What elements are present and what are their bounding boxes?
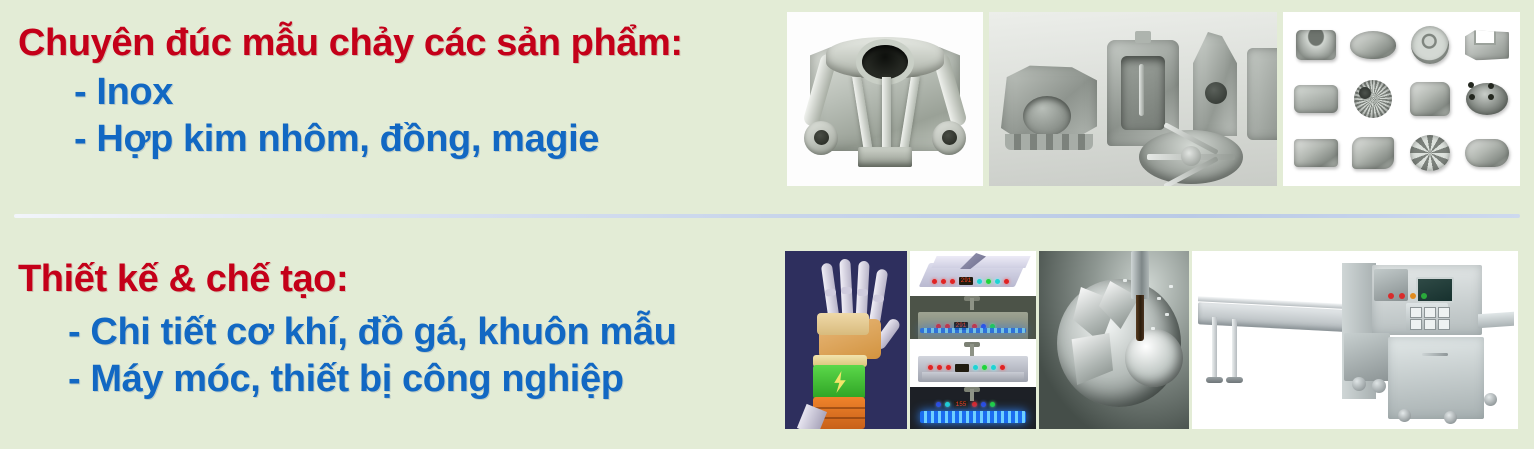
photo-casting-housing [787, 12, 983, 186]
design-heading: Thiết kế & chế tạo: [18, 258, 676, 301]
section-divider [14, 214, 1520, 218]
panel-readout-top: 291 [959, 277, 973, 285]
design-photo-strip: 291 291 [785, 251, 1518, 429]
casting-text-block: Chuyên đúc mẫu chảy các sản phẩm: - Inox… [18, 22, 683, 165]
photo-casting-grid [1283, 12, 1520, 186]
casting-bullet-inox: - Inox [74, 71, 683, 114]
photo-casting-group [989, 12, 1277, 186]
design-bullet-machines: - Máy móc, thiết bị công nghiệp [68, 358, 676, 401]
control-panel-render-lower [910, 342, 1036, 384]
casting-bullet-alloys: - Hợp kim nhôm, đồng, magie [74, 118, 683, 161]
casting-housing-illustration [800, 29, 970, 169]
control-panel-photo-lit: 155 [910, 387, 1036, 429]
slide-root: Chuyên đúc mẫu chảy các sản phẩm: - Inox… [0, 0, 1534, 449]
photo-robot-hand [785, 251, 907, 429]
photo-cnc-milling [1039, 251, 1189, 429]
casting-photo-strip [787, 12, 1520, 186]
photo-control-panels: 291 291 [910, 251, 1036, 429]
casting-heading: Chuyên đúc mẫu chảy các sản phẩm: [18, 22, 683, 65]
design-bullet-parts: - Chi tiết cơ khí, đồ gá, khuôn mẫu [68, 311, 676, 354]
casting-parts-grid [1289, 20, 1514, 178]
control-panel-render-top: 291 [910, 251, 1036, 293]
photo-packaging-machine [1192, 251, 1518, 429]
control-panel-photo-upper: 291 [910, 296, 1036, 338]
design-text-block: Thiết kế & chế tạo: - Chi tiết cơ khí, đ… [18, 258, 676, 405]
panel-readout-bottom: 155 [954, 401, 968, 409]
